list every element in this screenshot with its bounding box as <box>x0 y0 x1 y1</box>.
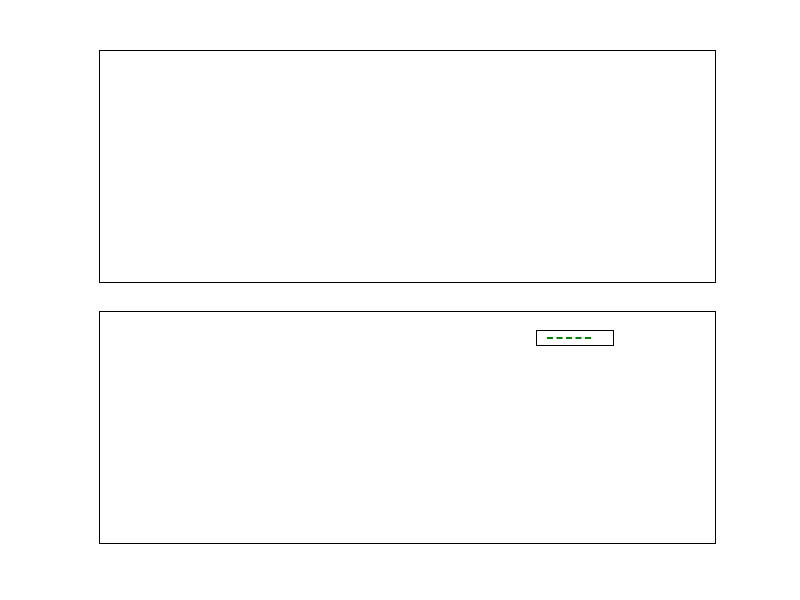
cumulative-curve-svg <box>100 312 715 543</box>
histogram-bars-group <box>100 51 715 282</box>
legend-box[interactable] <box>536 330 614 346</box>
figure-canvas <box>0 0 800 600</box>
cumulative-curve-group <box>100 312 715 543</box>
differential-histogram-panel <box>99 50 716 283</box>
cumulative-histogram-panel <box>99 311 716 544</box>
legend-dashed-line-icon <box>547 337 591 339</box>
